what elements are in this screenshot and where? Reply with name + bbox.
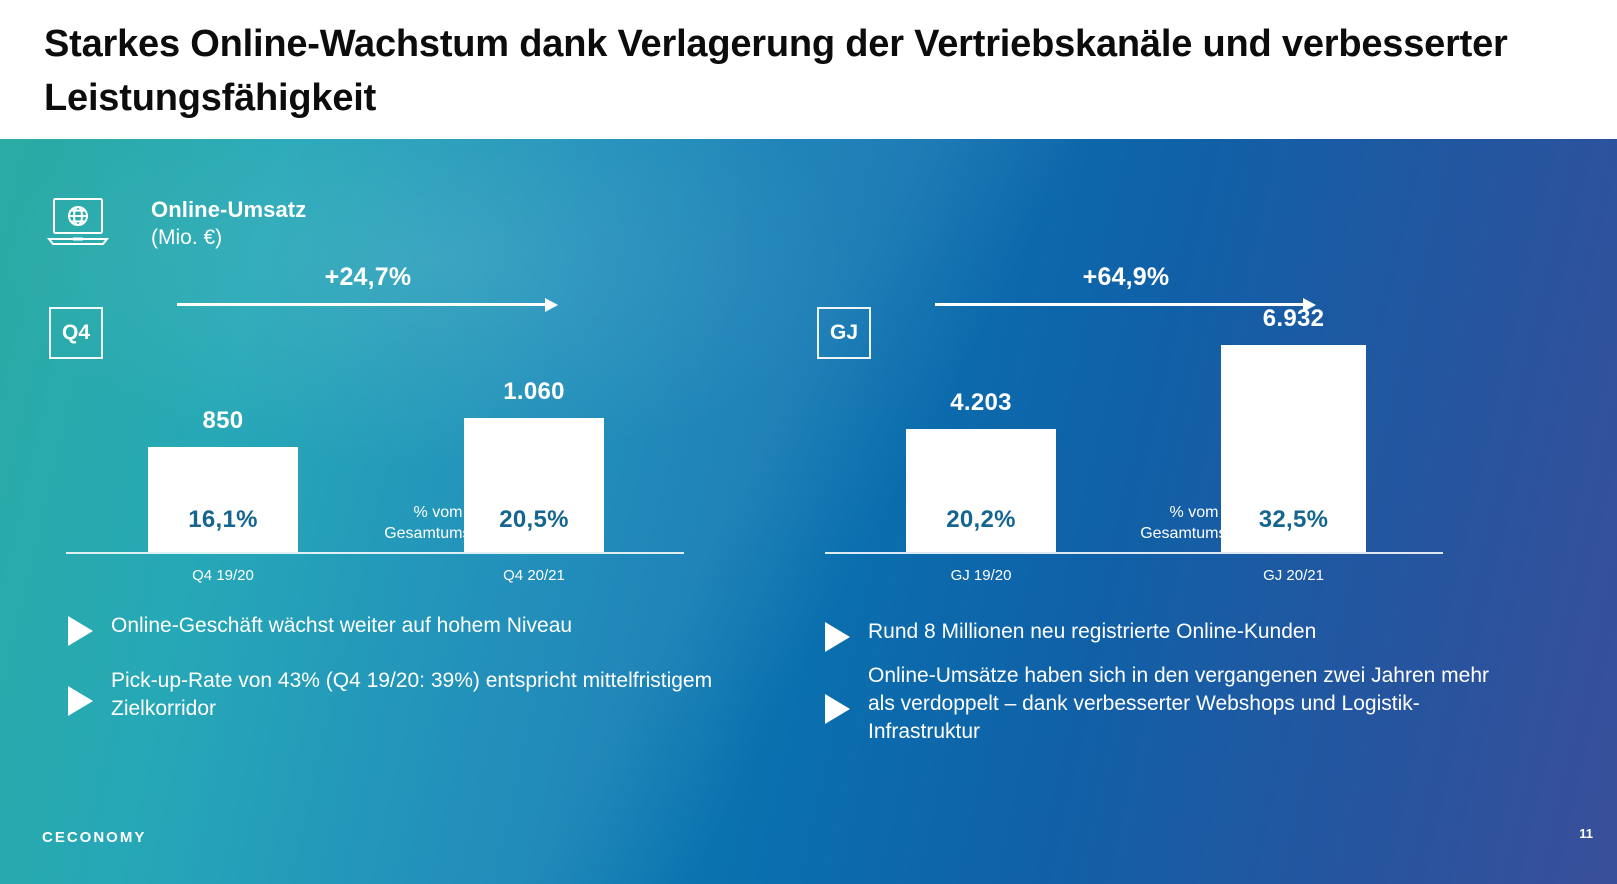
bar-value-label: 4.203 — [906, 389, 1056, 417]
bar-value-label: 6.932 — [1221, 305, 1366, 333]
metric-title: Online-Umsatz — [151, 196, 306, 224]
triangle-right-icon — [825, 694, 850, 724]
list-item-label: Online-Umsätze haben sich in den vergang… — [868, 662, 1505, 746]
chart-q4: 850 16,1% 1.060 20,5% % vom Gesamtumsatz… — [66, 330, 684, 590]
title-band: Starkes Online-Wachstum dank Verlagerung… — [0, 0, 1617, 139]
share-note-gj: % vom Gesamtumsatz — [1119, 502, 1269, 545]
list-item: Online-Umsätze haben sich in den vergang… — [825, 662, 1505, 746]
list-item: Pick-up-Rate von 43% (Q4 19/20: 39%) ent… — [68, 667, 768, 723]
page-number: 11 — [1579, 826, 1593, 841]
metric-label-group: Online-Umsatz (Mio. €) — [151, 196, 306, 252]
chart-axis-line — [825, 552, 1443, 554]
triangle-right-icon — [825, 622, 850, 652]
category-label: Q4 19/20 — [148, 567, 298, 584]
category-label: GJ 19/20 — [906, 567, 1056, 584]
metric-unit: (Mio. €) — [151, 224, 306, 252]
slide: Starkes Online-Wachstum dank Verlagerung… — [0, 0, 1617, 884]
arrow-right-icon — [177, 303, 545, 306]
bullet-list-q4: Online-Geschäft wächst weiter auf hohem … — [68, 612, 768, 723]
growth-value-q4: +24,7% — [177, 263, 559, 292]
laptop-globe-icon — [47, 196, 109, 248]
bullet-list-gj: Rund 8 Millionen neu registrierte Online… — [825, 618, 1505, 746]
arrow-head-icon — [545, 298, 558, 312]
list-item-label: Pick-up-Rate von 43% (Q4 19/20: 39%) ent… — [111, 667, 768, 723]
list-item-label: Online-Geschäft wächst weiter auf hohem … — [111, 612, 572, 640]
chart-axis-line — [66, 552, 684, 554]
growth-indicator-q4: +24,7% — [177, 263, 559, 323]
bar-q4-19-20: 850 16,1% — [148, 447, 298, 552]
bar-value-label: 1.060 — [464, 378, 604, 406]
list-item: Rund 8 Millionen neu registrierte Online… — [825, 618, 1505, 652]
chart-gj: 4.203 20,2% 6.932 32,5% % vom Gesamtumsa… — [825, 330, 1443, 590]
bar-share-label: 20,2% — [906, 506, 1056, 534]
category-label: Q4 20/21 — [464, 567, 604, 584]
growth-value-gj: +64,9% — [935, 263, 1317, 292]
list-item: Online-Geschäft wächst weiter auf hohem … — [68, 612, 768, 646]
category-label: GJ 20/21 — [1221, 567, 1366, 584]
share-note-q4: % vom Gesamtumsatz — [363, 502, 513, 545]
page-title: Starkes Online-Wachstum dank Verlagerung… — [44, 18, 1524, 126]
triangle-right-icon — [68, 616, 93, 646]
ceconomy-logo: CECONOMY — [42, 829, 146, 846]
triangle-right-icon — [68, 686, 93, 716]
bar-gj-19-20: 4.203 20,2% — [906, 429, 1056, 552]
list-item-label: Rund 8 Millionen neu registrierte Online… — [868, 618, 1316, 646]
bar-share-label: 16,1% — [148, 506, 298, 534]
bar-value-label: 850 — [148, 407, 298, 435]
